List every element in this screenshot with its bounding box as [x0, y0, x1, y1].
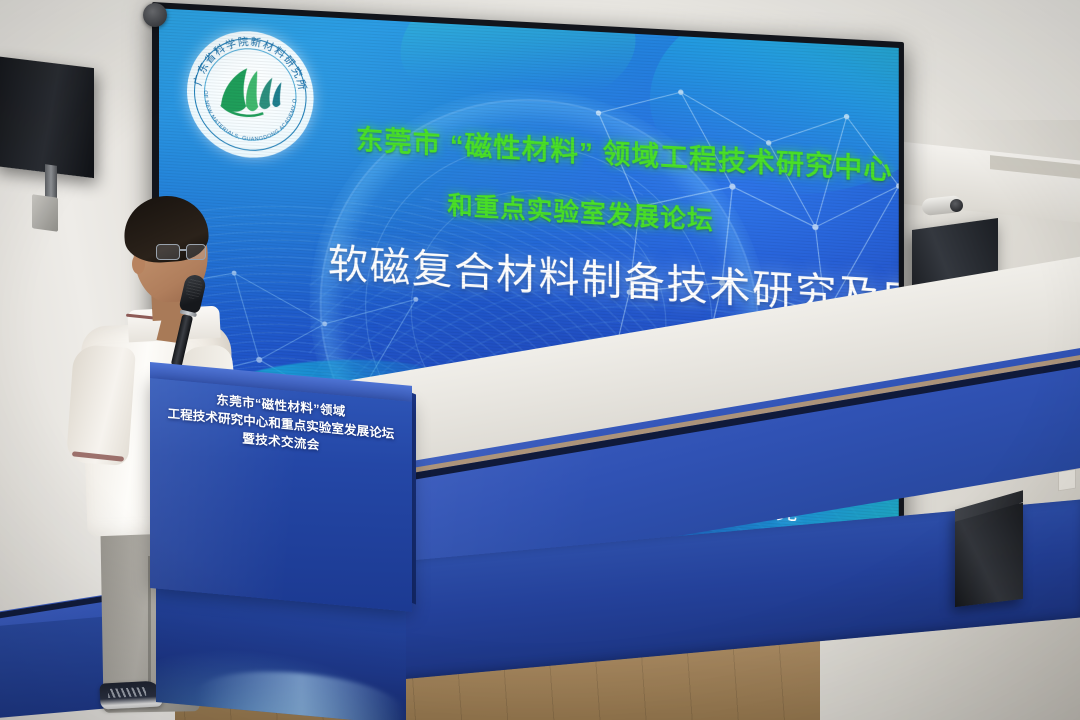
glasses-right-lens	[186, 244, 206, 260]
wall-socket[interactable]	[1058, 469, 1076, 492]
glasses-icon	[156, 244, 212, 261]
glasses-left-lens	[156, 244, 180, 260]
microphone-mesh	[184, 277, 203, 301]
speaker-podium: 东莞市“磁性材料”领域 工程技术研究中心和重点实验室发展论坛 暨技术交流会	[150, 362, 412, 702]
ceiling-camera-icon	[143, 3, 167, 27]
wall-camera-lens-icon	[950, 199, 963, 212]
left-wall-speaker	[0, 56, 94, 178]
presenter-left-sleeve	[66, 344, 136, 466]
slide-header-line-2: 和重点实验室发展论坛	[447, 185, 714, 237]
slide-header-line-1: 东莞市 “磁性材料” 领域工程技术研究中心	[356, 118, 892, 188]
conference-hall-scene: 广东省科学院新材料研究所 INSTITUTE OF NEW MATERIALS,…	[0, 0, 1080, 720]
left-speaker-mount-plate	[32, 194, 58, 232]
